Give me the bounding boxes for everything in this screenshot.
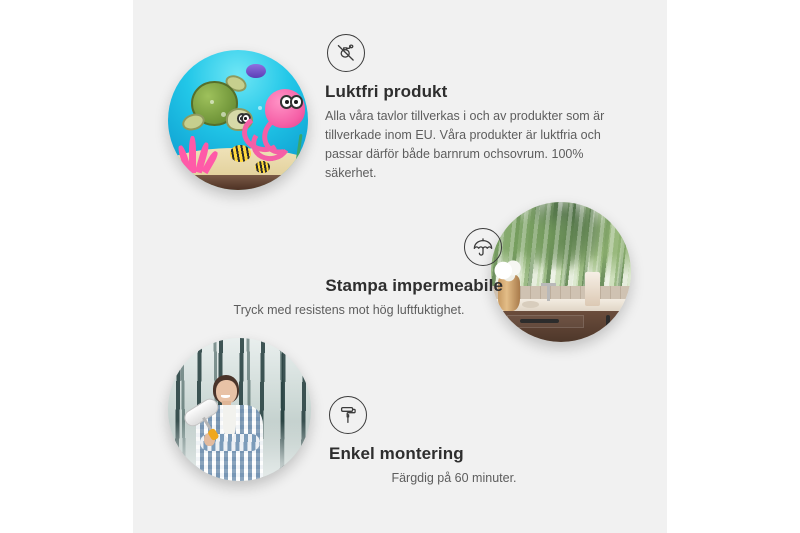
- feature-description: Färgdig på 60 minuter.: [329, 469, 579, 488]
- wooden-vanity-cabinet: [502, 311, 631, 342]
- feature-title: Luktfri produkt: [325, 81, 621, 102]
- feature-title: Stampa impermeabile: [195, 275, 503, 296]
- toiletry-bottle: [585, 272, 600, 306]
- woman-figure: [191, 375, 271, 481]
- octopus-body: [265, 89, 305, 128]
- cabinet-handle: [606, 315, 610, 334]
- coral-illustration: [179, 134, 221, 173]
- feature-description: Tryck med resistens mot hög luftfuktighe…: [195, 301, 503, 320]
- faucet: [547, 283, 550, 301]
- seabed-rock-band: [168, 175, 308, 190]
- umbrella-icon: [464, 228, 502, 266]
- drawer-handle: [520, 319, 559, 323]
- product-photo-bathroom-botanical: [491, 202, 631, 342]
- feature-title: Enkel montering: [329, 443, 579, 464]
- bubble: [221, 112, 226, 117]
- feature-block-easy-assembly: Enkel montering Färgdig på 60 minuter.: [329, 396, 579, 488]
- feature-description: Alla våra tavlor tillverkas i och av pro…: [325, 107, 621, 183]
- bubble: [258, 106, 262, 110]
- octopus-illustration: [241, 89, 305, 156]
- fish-yellow-large: [230, 145, 251, 162]
- feature-block-odourless-product: Luktfri produkt Alla våra tavlor tillver…: [325, 34, 621, 183]
- feature-block-waterproof-print: Stampa impermeabile Tryck med resistens …: [195, 228, 503, 320]
- product-photo-underwater-cartoon: [168, 50, 308, 190]
- product-photo-woman-paint-roller: [168, 338, 311, 481]
- fish-purple: [246, 64, 266, 78]
- octopus-eye-right: [290, 95, 303, 108]
- no-fragrance-icon: [327, 34, 365, 72]
- product-feature-page: Luktfri produkt Alla våra tavlor tillver…: [0, 0, 800, 533]
- content-panel: Luktfri produkt Alla våra tavlor tillver…: [133, 0, 667, 533]
- paint-roller-icon: [329, 396, 367, 434]
